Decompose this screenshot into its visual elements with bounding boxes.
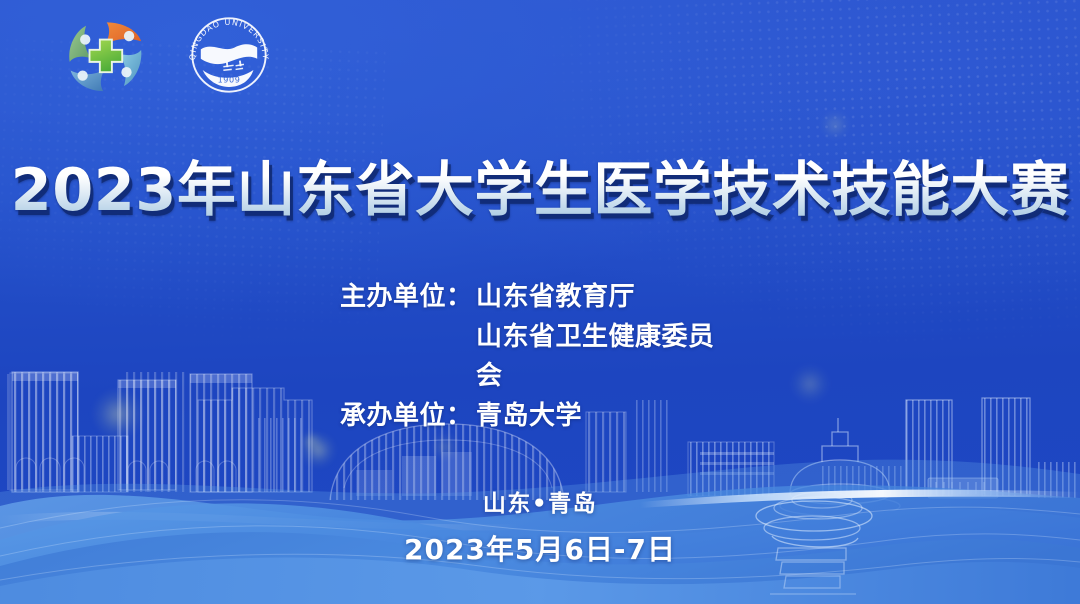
qingdao-university-seal: QINGDAO UNIVERSITY 1909 <box>182 8 276 102</box>
svg-text:1909: 1909 <box>218 74 241 84</box>
event-date: 2023年5月6日-7日 <box>0 528 1080 568</box>
organizer-block: 主办单位： 山东省教育厅 主办单位： 山东省卫生健康委员会 承办单位： 青岛大学 <box>0 278 1080 436</box>
poster-canvas: QINGDAO UNIVERSITY 1909 2023年山东省大学生医学技术技… <box>0 0 1080 604</box>
medical-skills-competition-emblem <box>62 12 148 98</box>
footer-block: 山东•青岛 2023年5月6日-7日 <box>0 484 1080 568</box>
organizer-row-2: 主办单位： 山东省卫生健康委员会 <box>340 318 740 397</box>
organizer-label-3: 承办单位： <box>340 397 476 437</box>
event-location: 山东•青岛 <box>0 484 1080 518</box>
organizer-row-3: 承办单位： 青岛大学 <box>340 397 740 437</box>
organizer-value-1: 山东省教育厅 <box>476 278 740 318</box>
organizer-label-1: 主办单位： <box>340 278 476 318</box>
organizer-row-1: 主办单位： 山东省教育厅 <box>340 278 740 318</box>
organizer-value-3: 青岛大学 <box>476 397 740 437</box>
logo-row: QINGDAO UNIVERSITY 1909 <box>62 8 276 102</box>
page-title: 2023年山东省大学生医学技术技能大赛 <box>0 142 1080 227</box>
organizer-value-2: 山东省卫生健康委员会 <box>476 318 740 397</box>
